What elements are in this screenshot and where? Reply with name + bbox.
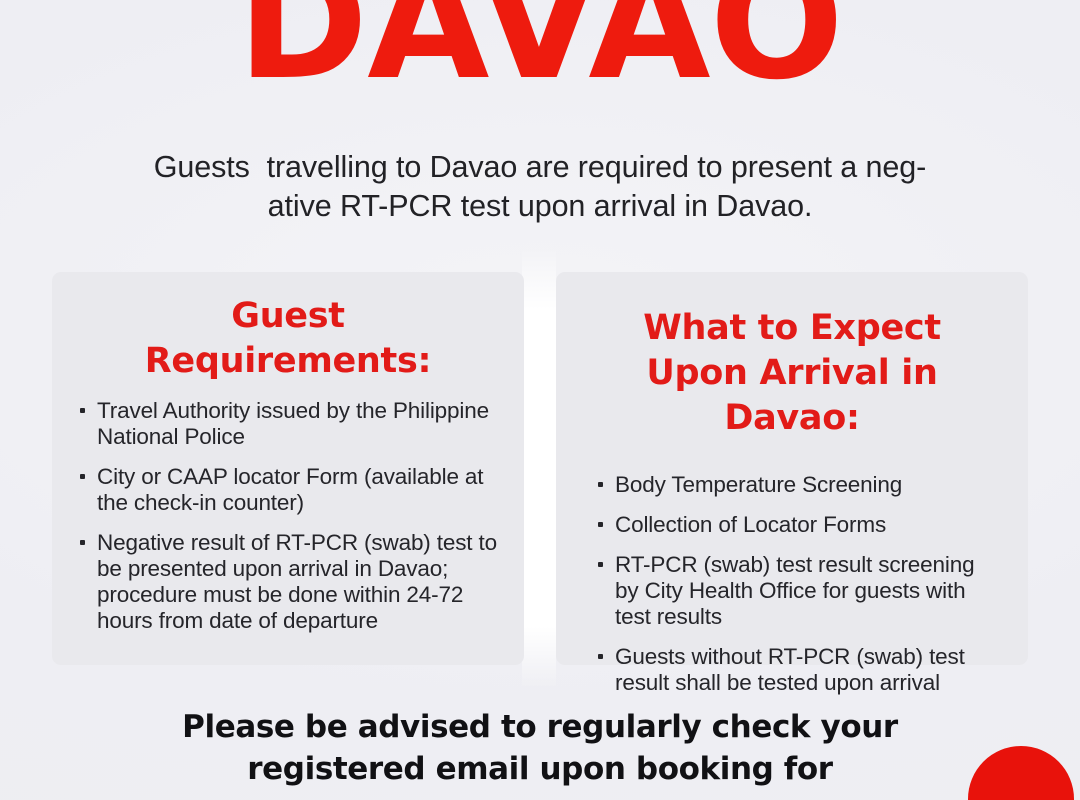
list-item-text: Negative result of RT-PCR (swab) test to… bbox=[97, 530, 497, 633]
list-item-text: City or CAAP locator Form (available at … bbox=[97, 464, 483, 515]
guest-requirements-list: Travel Authority issued by the Philippin… bbox=[76, 398, 500, 634]
intro-paragraph: Guests travelling to Davao are required … bbox=[60, 148, 1020, 226]
bullet-dot-icon bbox=[598, 522, 603, 527]
bullet-dot-icon bbox=[80, 540, 85, 545]
cards-container: Guest Requirements: Travel Authority iss… bbox=[52, 272, 1028, 665]
list-item-text: Guests without RT-PCR (swab) test result… bbox=[615, 644, 965, 695]
bullet-dot-icon bbox=[598, 482, 603, 487]
list-item: RT-PCR (swab) test result screening by C… bbox=[594, 552, 1004, 630]
card-heading-guest-requirements: Guest Requirements: bbox=[76, 294, 500, 384]
list-item: Travel Authority issued by the Philippin… bbox=[76, 398, 500, 450]
list-item-text: Collection of Locator Forms bbox=[615, 512, 886, 537]
page-title: DAVAO bbox=[0, 0, 1080, 102]
card-what-to-expect: What to Expect Upon Arrival in Davao: Bo… bbox=[556, 272, 1028, 665]
list-item: Guests without RT-PCR (swab) test result… bbox=[594, 644, 1004, 696]
card-heading-what-to-expect: What to Expect Upon Arrival in Davao: bbox=[580, 306, 1004, 441]
list-item-text: Travel Authority issued by the Philippin… bbox=[97, 398, 489, 449]
list-item: Negative result of RT-PCR (swab) test to… bbox=[76, 530, 500, 634]
poster-canvas: DAVAO Guests travelling to Davao are req… bbox=[0, 0, 1080, 800]
list-item-text: RT-PCR (swab) test result screening by C… bbox=[615, 552, 974, 629]
card-guest-requirements: Guest Requirements: Travel Authority iss… bbox=[52, 272, 524, 665]
bullet-dot-icon bbox=[80, 474, 85, 479]
footer-advisory-note: Please be advised to regularly check you… bbox=[70, 706, 1010, 790]
list-item-text: Body Temperature Screening bbox=[615, 472, 902, 497]
list-item: City or CAAP locator Form (available at … bbox=[76, 464, 500, 516]
bullet-dot-icon bbox=[598, 562, 603, 567]
list-item: Collection of Locator Forms bbox=[594, 512, 1004, 538]
bullet-dot-icon bbox=[80, 408, 85, 413]
what-to-expect-list: Body Temperature Screening Collection of… bbox=[580, 472, 1004, 696]
list-item: Body Temperature Screening bbox=[594, 472, 1004, 498]
title-block: DAVAO bbox=[0, 0, 1080, 114]
bullet-dot-icon bbox=[598, 654, 603, 659]
